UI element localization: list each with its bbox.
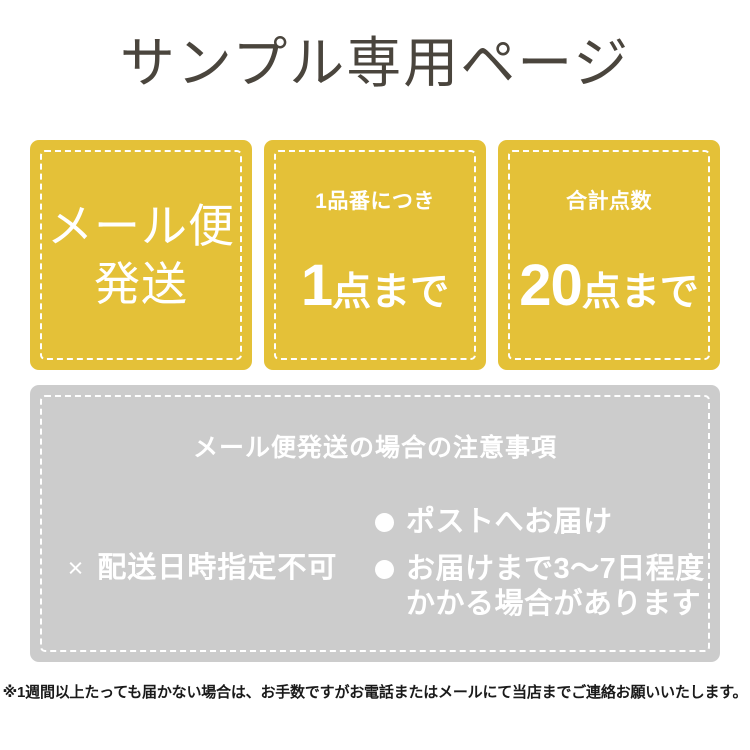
page-title: サンプル専用ページ	[0, 28, 750, 98]
notice-bullet-line1: お届けまで3〜7日程度	[406, 553, 705, 585]
card-shipping-method-content: メール便 発送	[30, 140, 252, 370]
card-per-item-limit-number: 1	[301, 257, 332, 315]
notice-heading: メール便発送の場合の注意事項	[30, 433, 720, 463]
card-total-limit-unit: 点まで	[582, 273, 699, 312]
notice-bullet-item: ポストへお届け	[375, 505, 720, 540]
card-total-limit-number: 20	[519, 257, 582, 315]
sample-shipping-info-banner: サンプル専用ページ メール便 発送 1品番につき 1 点まで	[0, 0, 750, 750]
card-total-limit-caption: 合計点数	[566, 189, 652, 215]
notice-restriction-item: × 配送日時指定不可	[68, 551, 338, 585]
notice-restriction-text: 配送日時指定不可	[97, 551, 337, 585]
notice-restriction-column: × 配送日時指定不可	[30, 503, 375, 633]
notice-body: × 配送日時指定不可 ポストへお届け お届けまで3〜7日程度 かかる場合がありま…	[30, 503, 720, 643]
notice-bullets-column: ポストへお届け お届けまで3〜7日程度 かかる場合があります	[375, 503, 720, 622]
card-per-item-limit-value: 1 点まで	[301, 257, 449, 315]
notice-bullet-line2: かかる場合があります	[406, 587, 705, 622]
card-per-item-limit-unit: 点まで	[332, 273, 449, 312]
bullet-dot-icon	[375, 513, 394, 532]
card-per-item-limit: 1品番につき 1 点まで	[264, 140, 486, 370]
notice-bullet-item: お届けまで3〜7日程度 かかる場合があります	[375, 552, 720, 622]
card-total-limit: 合計点数 20 点まで	[498, 140, 720, 370]
card-shipping-method-line1: メール便	[47, 197, 235, 255]
card-per-item-limit-caption: 1品番につき	[315, 189, 435, 215]
notice-bullet-text: お届けまで3〜7日程度 かかる場合があります	[406, 552, 705, 622]
footnote-text: ※1週間以上たっても届かない場合は、お手数ですがお電話またはメールにて当店までご…	[0, 682, 750, 704]
notice-panel: メール便発送の場合の注意事項 × 配送日時指定不可 ポストへお届け	[30, 385, 720, 662]
notice-bullet-text: ポストへお届け	[406, 505, 613, 540]
notice-bullet-line1: ポストへお届け	[406, 506, 613, 538]
card-per-item-limit-content: 1品番につき 1 点まで	[264, 140, 486, 370]
card-shipping-method: メール便 発送	[30, 140, 252, 370]
cross-mark-icon: ×	[68, 555, 84, 582]
card-total-limit-value: 20 点まで	[519, 257, 699, 315]
info-cards-row: メール便 発送 1品番につき 1 点まで 合計点数 20 点まで	[30, 140, 720, 370]
card-shipping-method-line2: 発送	[94, 255, 188, 313]
card-total-limit-content: 合計点数 20 点まで	[498, 140, 720, 370]
bullet-dot-icon	[375, 560, 394, 579]
